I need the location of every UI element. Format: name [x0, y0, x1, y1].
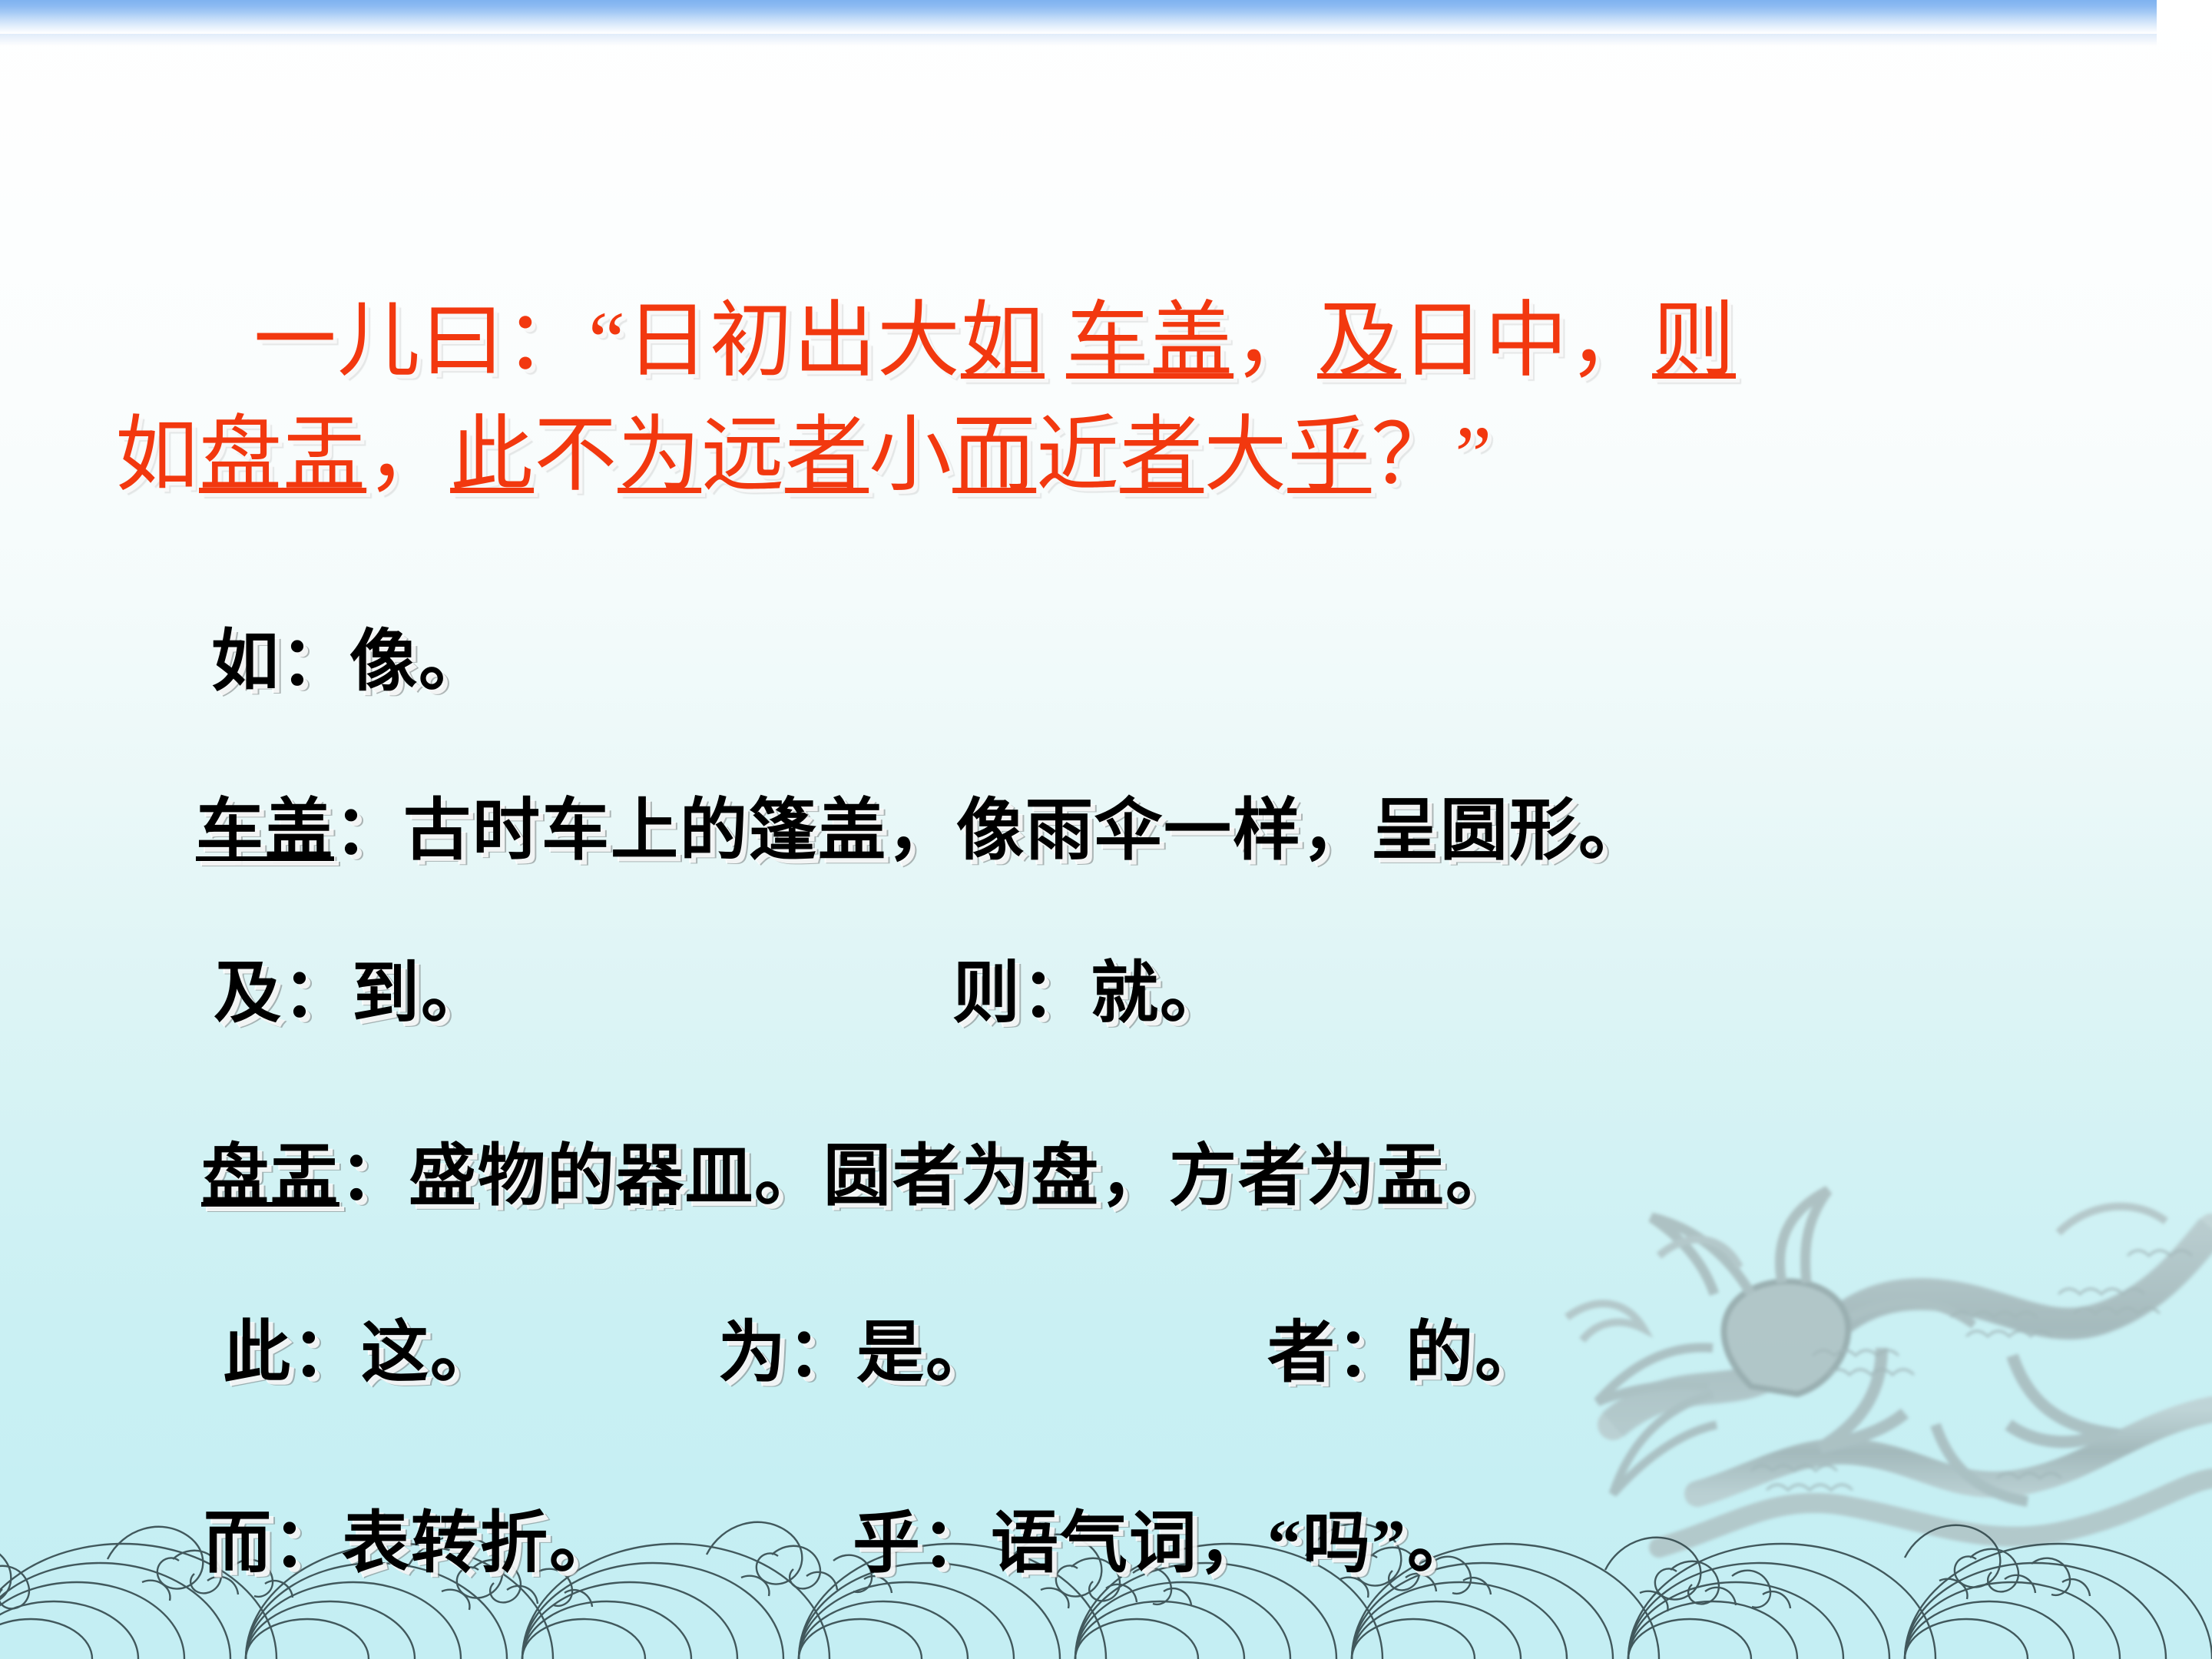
gloss-ru: 如：像。 [211, 607, 488, 704]
quote-line-2: 如盘盂，此不为远者小而近者大乎？” [115, 399, 2128, 513]
quote-l2-seg-h: ？” [1371, 410, 1492, 502]
slide-canvas: 一儿曰：“日初出大如 车盖，及日中，则 如盘盂，此不为远者小而近者大乎？” 如：… [0, 0, 2212, 1659]
slide-content: 一儿曰：“日初出大如 车盖，及日中，则 如盘盂，此不为远者小而近者大乎？” 如：… [0, 0, 2212, 1659]
quote-l2-seg-g: 大 [1204, 410, 1287, 502]
gloss-ci: 此：这。 [223, 1298, 499, 1396]
gloss-zhe: 者：的。 [1267, 1298, 1544, 1396]
quote-l2-seg-a: 如 [115, 410, 199, 502]
quote-l1-seg-c: ， [1233, 296, 1317, 387]
quote-l1-underline-ze: 则 [1652, 296, 1736, 387]
quote-l1-underline-ru: 如 [961, 296, 1045, 387]
gloss-panyu-definition: ：盛物的器皿。圆者为盘，方者为盂。 [339, 1140, 1515, 1214]
gloss-chegai-term: 车盖 [196, 794, 334, 869]
gloss-wei: 为：是。 [718, 1298, 995, 1396]
classical-text-quote: 一儿曰：“日初出大如 车盖，及日中，则 如盘盂，此不为远者小而近者大乎？” [115, 284, 2128, 513]
quote-l2-seg-b: ， [366, 410, 450, 502]
quote-l2-underline-zhe1: 者 [785, 410, 869, 502]
gloss-ji: 及：到。 [214, 939, 490, 1036]
quote-l2-underline-hu: 乎 [1287, 410, 1371, 502]
quote-l2-underline-ci: 此 [450, 410, 534, 502]
quote-l1-seg-b [1045, 296, 1066, 387]
gloss-er: 而：表转折。 [204, 1488, 618, 1586]
gloss-ze: 则：就。 [952, 939, 1229, 1036]
quote-l2-underline-wei: 为 [618, 410, 701, 502]
gloss-panyu-term: 盘盂 [201, 1140, 339, 1214]
quote-l2-seg-f: 近 [1036, 410, 1120, 502]
quote-line-1: 一儿曰：“日初出大如 车盖，及日中，则 [115, 284, 2128, 399]
quote-l1-underline-chegai: 车盖 [1066, 296, 1233, 387]
gloss-hu: 乎：语气词，“吗”。 [853, 1488, 1476, 1586]
quote-l2-seg-e: 小 [869, 410, 952, 502]
quote-l2-seg-c: 不 [534, 410, 618, 502]
quote-l2-seg-d: 远 [701, 410, 785, 502]
quote-l1-seg-d: 日中， [1401, 296, 1652, 387]
gloss-chegai: 车盖：古时车上的篷盖，像雨伞一样，呈圆形。 [196, 776, 1647, 873]
quote-l1-seg-a: 一儿曰：“日初出大 [253, 296, 961, 387]
quote-l1-underline-ji: 及 [1317, 296, 1401, 387]
quote-l2-underline-er: 而 [952, 410, 1036, 502]
gloss-panyu: 盘盂：盛物的器皿。圆者为盘，方者为盂。 [201, 1121, 1515, 1219]
quote-l2-underline-zhe2: 者 [1120, 410, 1204, 502]
quote-l2-underline-panyu: 盘盂 [199, 410, 366, 502]
gloss-chegai-definition: ：古时车上的篷盖，像雨伞一样，呈圆形。 [334, 794, 1647, 869]
